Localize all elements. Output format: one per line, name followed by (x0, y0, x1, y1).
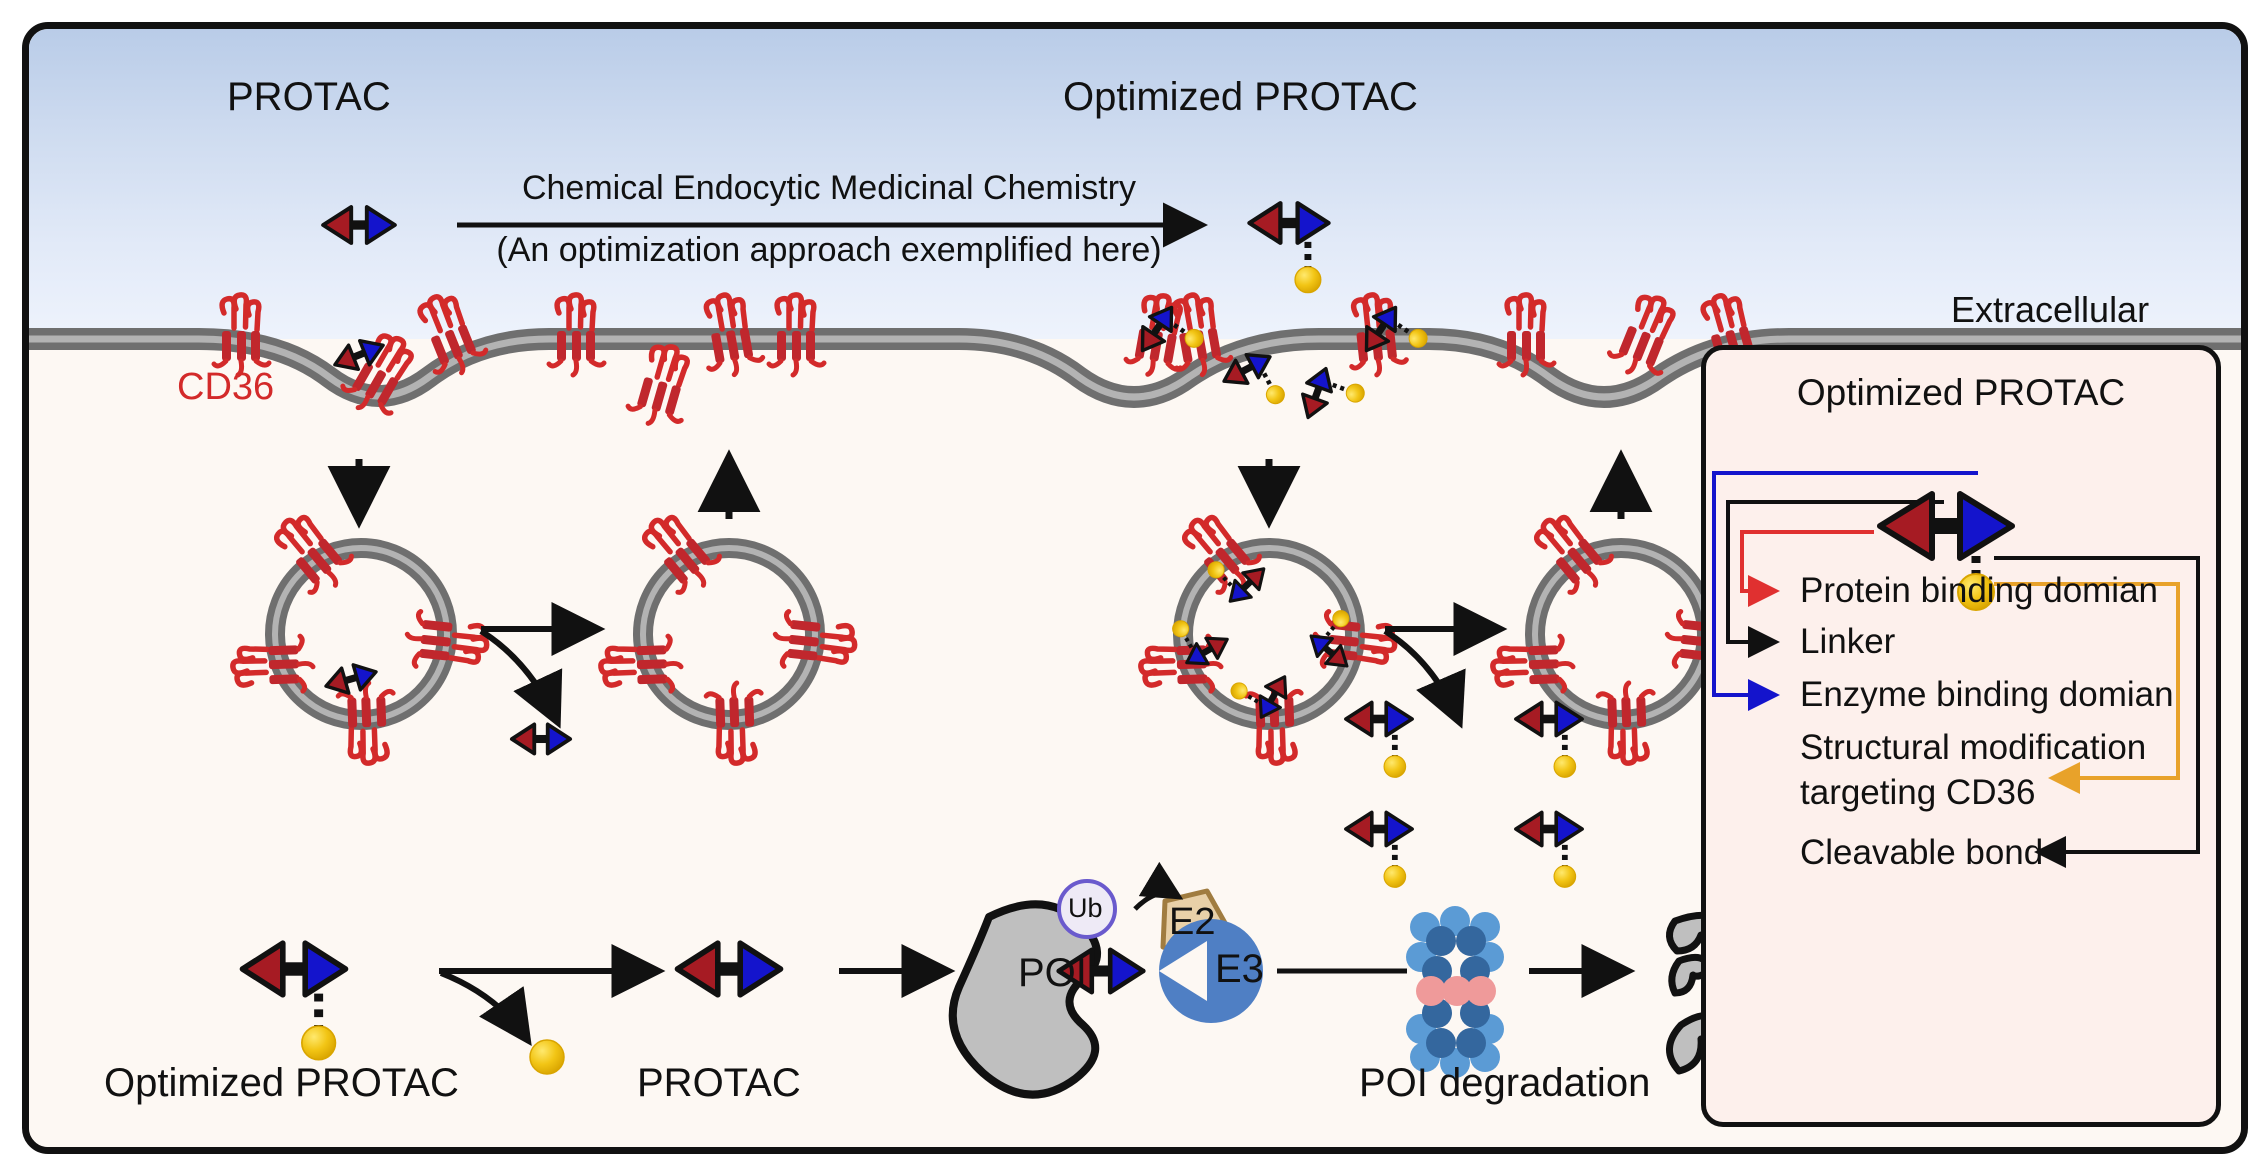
extracellular-label: Extracellular (1951, 289, 2149, 331)
poi-label: POI (1018, 951, 1087, 996)
poi-degradation-label: POI degradation (1359, 1061, 1650, 1106)
legend-item-protein-binding-domain: Protein binding domian (1800, 572, 2158, 609)
left-vesicle-loaded (232, 504, 490, 764)
right-vesicle-transition-arrow (1385, 629, 1499, 721)
conversion-arrow-caption-line2: (An optimization approach exemplified he… (457, 231, 1201, 270)
released-cleavable-tag (530, 1040, 564, 1074)
legend-item-targeting-cd36: targeting CD36 (1800, 774, 2035, 811)
left-vesicle-empty (600, 504, 858, 764)
top-right-optimized-protac-label: Optimized PROTAC (1063, 75, 1418, 120)
legend-item-structural-modification: Structural modification (1800, 729, 2146, 766)
bond-cleavage-arrow (439, 971, 657, 1039)
e3-label: E3 (1215, 947, 1264, 992)
ub-label: Ub (1068, 893, 1103, 924)
legend-item-enzyme-binding-domain: Enzyme binding domian (1800, 676, 2174, 713)
top-protac-glyph (323, 207, 395, 243)
bottom-protac (677, 943, 780, 995)
left-vesicle-transition-arrow (481, 629, 597, 721)
legend-item-cleavable-bond: Cleavable bond (1800, 834, 2043, 871)
released-optimized-protac-cluster (1346, 702, 1582, 887)
legend-item-linker: Linker (1800, 623, 1895, 660)
left-released-protac (512, 724, 570, 753)
proteasome (1406, 906, 1504, 1078)
bottom-optimized-protac-label: Optimized PROTAC (104, 1061, 459, 1106)
bottom-optimized-protac (242, 943, 345, 1059)
bottom-protac-label: PROTAC (637, 1061, 801, 1106)
conversion-arrow-caption-line1: Chemical Endocytic Medicinal Chemistry (457, 169, 1201, 208)
cd36-label: CD36 (177, 366, 274, 409)
top-optimized-protac-glyph (1249, 203, 1328, 292)
figure-panel: PROTAC Optimized PROTAC Chemical Endocyt… (22, 22, 2248, 1154)
e2-label: E2 (1169, 901, 1215, 944)
top-left-protac-label: PROTAC (227, 75, 391, 120)
legend-panel: Optimized PROTAC (1701, 345, 2221, 1127)
